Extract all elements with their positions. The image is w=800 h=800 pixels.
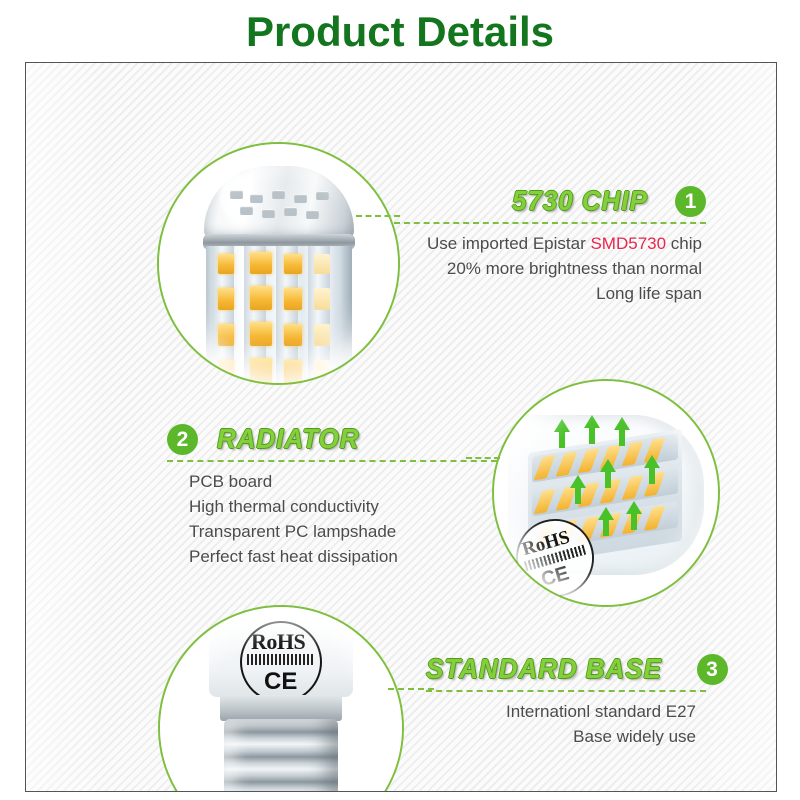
- bulb-led-body: [206, 246, 352, 385]
- callout-body: Use imported Epistar SMD5730 chip 20% mo…: [394, 224, 706, 306]
- callout-line: Perfect fast heat dissipation: [189, 544, 497, 569]
- callout-line: 20% more brightness than normal: [394, 256, 702, 281]
- heat-arrow-icon: [584, 415, 600, 428]
- heat-arrow-icon: [600, 459, 616, 472]
- rohs-text: RoHS: [251, 629, 305, 655]
- product-photo-base: RoHS CE: [158, 605, 404, 792]
- callout-heading-row: 2 RADIATOR: [167, 423, 497, 457]
- callout-body: Internationl standard E27 Base widely us…: [426, 692, 706, 749]
- ce-text: CE: [539, 562, 572, 592]
- callout-line: Long life span: [394, 281, 702, 306]
- chip-model: SMD5730: [590, 234, 666, 253]
- product-photo-chip: [157, 142, 400, 385]
- callout-line: Use imported Epistar SMD5730 chip: [394, 231, 702, 256]
- heat-arrow-icon: [626, 501, 642, 514]
- callout-radiator: 2 RADIATOR PCB board High thermal conduc…: [167, 423, 497, 569]
- product-photo-radiator: RoHS CE: [492, 379, 720, 607]
- e27-base-image: RoHS CE: [206, 615, 356, 792]
- base-collar: [220, 695, 342, 721]
- heat-arrow-icon: [554, 419, 570, 432]
- callout-heading: RADIATOR: [217, 423, 359, 455]
- heat-arrow-icon: [570, 475, 586, 488]
- callout-body: PCB board High thermal conductivity Tran…: [167, 462, 497, 569]
- screw-thread: [224, 719, 338, 792]
- callout-base: STANDARD BASE 3 Internationl standard E2…: [426, 653, 706, 749]
- page-title: Product Details: [0, 8, 800, 56]
- led-heat-dissipation-image: RoHS CE: [508, 415, 704, 575]
- ce-text: CE: [264, 668, 297, 696]
- product-details-infographic: Product Details: [0, 0, 800, 800]
- heat-arrow-icon: [644, 455, 660, 468]
- callout-line: High thermal conductivity: [189, 494, 497, 519]
- heat-arrow-icon: [614, 417, 630, 430]
- callout-line: Internationl standard E27: [426, 699, 696, 724]
- heat-arrow-icon: [598, 507, 614, 520]
- content-panel: RoHS CE RoHS CE: [25, 62, 777, 792]
- rohs-label: RoHS CE: [240, 621, 322, 703]
- callout-heading-row: STANDARD BASE 3: [426, 653, 706, 687]
- step-badge-1: 1: [675, 186, 706, 217]
- led-corn-bulb-image: [204, 166, 354, 385]
- step-badge-2: 2: [167, 424, 198, 455]
- callout-heading-row: 5730 CHIP 1: [394, 185, 706, 219]
- callout-chip: 5730 CHIP 1 Use imported Epistar SMD5730…: [394, 185, 706, 306]
- callout-heading: 5730 CHIP: [512, 185, 648, 217]
- callout-line: PCB board: [189, 469, 497, 494]
- callout-line: Transparent PC lampshade: [189, 519, 497, 544]
- bulb-top-dots: [230, 190, 330, 222]
- callout-line: Base widely use: [426, 724, 696, 749]
- step-badge-3: 3: [697, 654, 728, 685]
- callout-heading: STANDARD BASE: [426, 653, 662, 685]
